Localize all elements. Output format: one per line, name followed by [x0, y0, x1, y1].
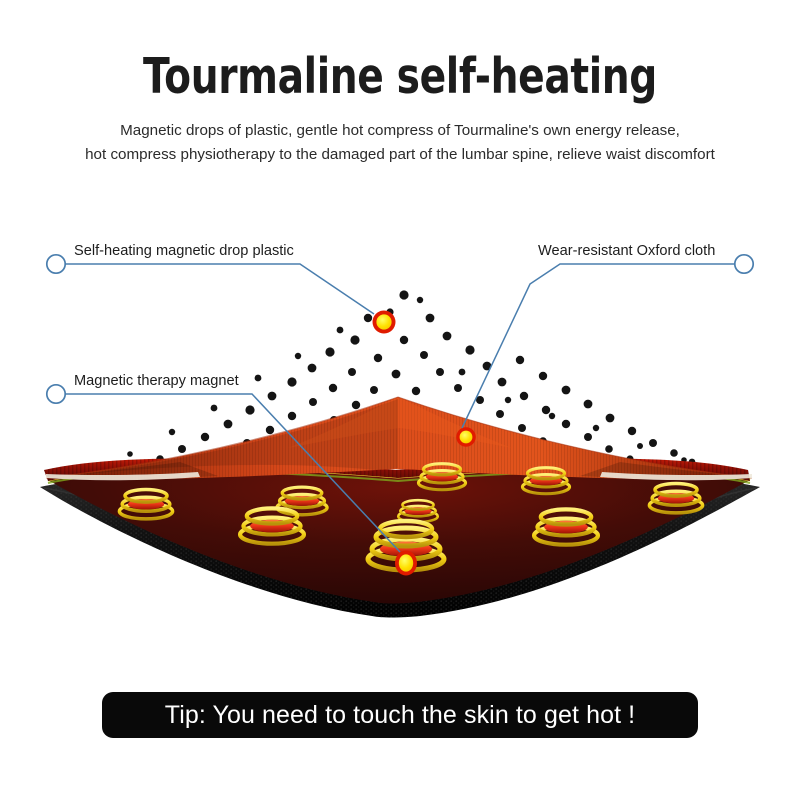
tip-banner: Tip: You need to touch the skin to get h…: [102, 692, 698, 738]
callout-line-oxford-cloth: [462, 264, 738, 428]
callout-label-therapy-magnet: Magnetic therapy magnet: [74, 373, 239, 389]
hotspot-marker-drop-plastic: [373, 311, 396, 334]
callout-label-oxford-cloth: Wear-resistant Oxford cloth: [538, 243, 715, 259]
hotspot-marker-oxford-cloth: [456, 427, 476, 447]
callout-marker-drop-plastic: [47, 255, 65, 273]
hotspot-marker-therapy-magnet: [395, 551, 417, 576]
callout-marker-oxford-cloth: [735, 255, 753, 273]
product-illustration: [0, 0, 800, 800]
infographic-page: Tourmaline self-heating Magnetic drops o…: [0, 0, 800, 800]
callout-line-drop-plastic: [62, 264, 374, 314]
callout-label-drop-plastic: Self-heating magnetic drop plastic: [74, 243, 294, 259]
callout-marker-therapy-magnet: [47, 385, 65, 403]
tip-banner-text: Tip: You need to touch the skin to get h…: [165, 701, 635, 730]
pad-top-orange-fabric: [46, 397, 752, 480]
